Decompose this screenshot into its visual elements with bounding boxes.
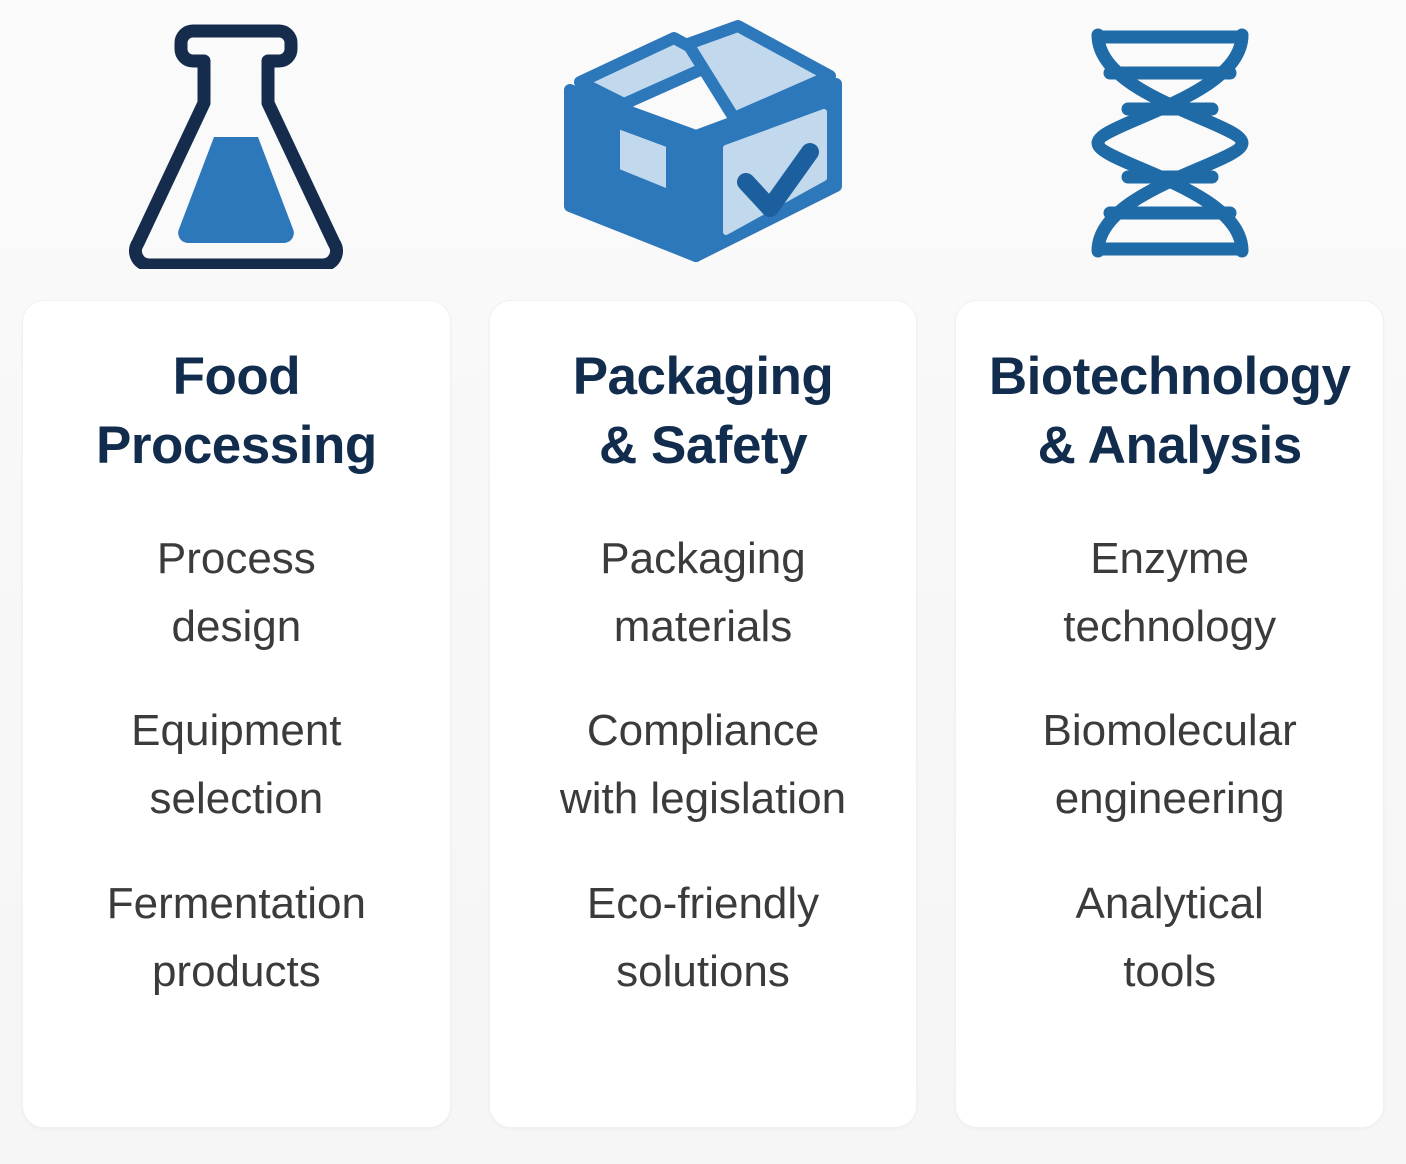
feature-item: Fermentation products	[107, 870, 366, 1006]
flask-icon	[22, 0, 451, 300]
feature-item: Enzyme technology	[1063, 525, 1276, 661]
card-title: Biotechnology & Analysis	[989, 343, 1351, 481]
category-columns: Food Processing Process design Equipment…	[0, 0, 1406, 1164]
feature-item: Analytical tools	[1076, 870, 1264, 1006]
feature-item: Biomolecular engineering	[1043, 697, 1297, 833]
package-check-icon	[489, 0, 918, 300]
dna-helix-icon	[955, 0, 1384, 300]
feature-item: Packaging materials	[600, 525, 805, 661]
category-card-food-processing[interactable]: Food Processing Process design Equipment…	[22, 300, 451, 1128]
category-column-biotechnology-analysis: Biotechnology & Analysis Enzyme technolo…	[955, 0, 1384, 1128]
card-title: Food Processing	[96, 343, 377, 481]
feature-list: Packaging materials Compliance with legi…	[506, 525, 901, 1006]
feature-item: Process design	[157, 525, 316, 661]
infographic-board: Food Processing Process design Equipment…	[0, 0, 1406, 1164]
feature-item: Compliance with legislation	[560, 697, 846, 833]
feature-item: Equipment selection	[131, 697, 341, 833]
category-card-biotechnology-analysis[interactable]: Biotechnology & Analysis Enzyme technolo…	[955, 300, 1384, 1128]
feature-list: Process design Equipment selection Ferme…	[39, 525, 434, 1006]
category-column-food-processing: Food Processing Process design Equipment…	[22, 0, 451, 1128]
category-column-packaging-safety: Packaging & Safety Packaging materials C…	[489, 0, 918, 1128]
card-title: Packaging & Safety	[573, 343, 834, 481]
feature-list: Enzyme technology Biomolecular engineeri…	[972, 525, 1367, 1006]
feature-item: Eco-friendly solutions	[587, 870, 819, 1006]
category-card-packaging-safety[interactable]: Packaging & Safety Packaging materials C…	[489, 300, 918, 1128]
